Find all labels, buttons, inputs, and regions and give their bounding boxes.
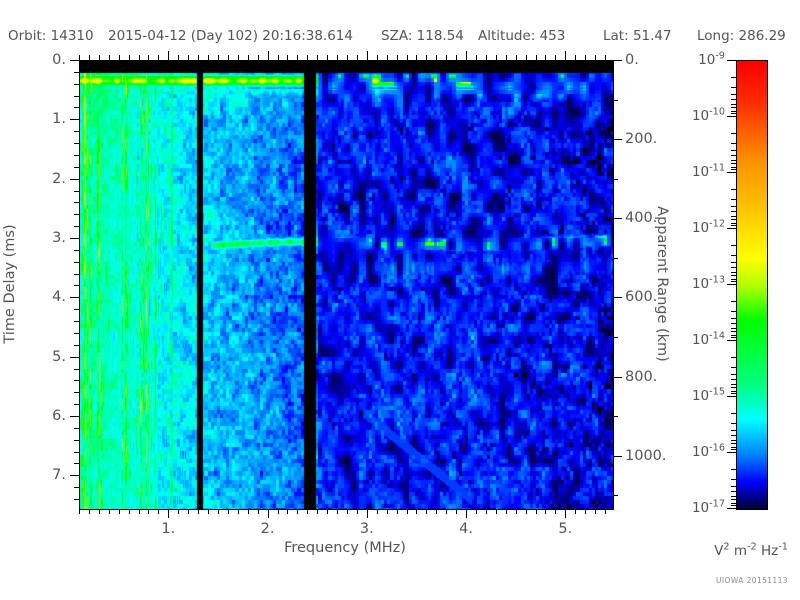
colorbar-minor-tick — [731, 491, 736, 492]
colorbar-minor-tick — [731, 163, 736, 164]
colorbar-tick-label: 10-17 — [692, 500, 725, 516]
header-field-label: Lat: — [603, 28, 633, 44]
y-left-minor-tick — [74, 392, 79, 393]
x-minor-tick-top — [218, 55, 219, 60]
header-field-value: 14310 — [51, 28, 94, 44]
x-minor-tick-top — [397, 55, 398, 60]
y-axis-right-tick-label: 0. — [625, 52, 639, 68]
x-minor-tick-top — [307, 55, 308, 60]
y-left-minor-tick — [74, 321, 79, 322]
x-minor-tick-top — [129, 55, 130, 60]
y-left-minor-tick — [74, 487, 79, 488]
x-minor-tick-top — [327, 55, 328, 60]
x-minor-tick — [278, 509, 279, 514]
colorbar-minor-tick — [731, 99, 736, 100]
colorbar-minor-tick — [731, 374, 736, 375]
colorbar-minor-tick — [731, 272, 736, 273]
y-axis-left-tick-label: 5. — [0, 349, 66, 365]
x-axis-tick-label: 4. — [459, 521, 473, 537]
x-minor-tick — [258, 509, 259, 514]
x-minor-tick-top — [79, 55, 80, 60]
colorbar-minor-tick — [731, 267, 736, 268]
x-major-tick-top — [168, 51, 169, 60]
x-minor-tick-top — [317, 55, 318, 60]
colorbar-tick-label: 10-15 — [692, 388, 725, 404]
x-minor-tick — [337, 509, 338, 514]
x-minor-tick — [139, 509, 140, 514]
x-axis-title: Frequency (MHz) — [284, 540, 406, 556]
y-left-minor-tick — [74, 333, 79, 334]
x-minor-tick-top — [228, 55, 229, 60]
y-left-minor-tick — [74, 499, 79, 500]
colorbar-minor-tick — [731, 379, 736, 380]
colorbar-minor-tick — [731, 357, 736, 358]
y-left-minor-tick — [74, 250, 79, 251]
y-left-minor-tick — [74, 167, 79, 168]
x-minor-tick — [307, 509, 308, 514]
y-left-minor-tick — [74, 369, 79, 370]
x-minor-tick-top — [188, 55, 189, 60]
x-minor-tick-top — [506, 55, 507, 60]
colorbar-minor-tick — [731, 143, 736, 144]
x-minor-tick — [198, 509, 199, 514]
y-left-minor-tick — [74, 463, 79, 464]
x-minor-tick — [89, 509, 90, 514]
header-field-0: Orbit: 14310 — [8, 28, 94, 44]
x-minor-tick-top — [89, 55, 90, 60]
colorbar-minor-tick — [731, 301, 736, 302]
colorbar-minor-tick — [731, 331, 736, 332]
colorbar-minor-tick — [731, 384, 736, 385]
x-minor-tick-top — [158, 55, 159, 60]
x-major-tick — [168, 509, 169, 518]
colorbar-minor-tick — [731, 391, 736, 392]
colorbar-minor-tick — [731, 335, 736, 336]
x-minor-tick-top — [337, 55, 338, 60]
y-left-minor-tick — [74, 96, 79, 97]
x-minor-tick-top — [446, 55, 447, 60]
x-minor-tick — [436, 509, 437, 514]
x-minor-tick-top — [148, 55, 149, 60]
x-minor-tick — [297, 509, 298, 514]
header-field-2: SZA: 118.54 — [381, 28, 464, 44]
y-left-major-tick — [70, 357, 79, 358]
colorbar-major-tick — [727, 228, 736, 229]
x-minor-tick — [317, 509, 318, 514]
x-minor-tick-top — [416, 55, 417, 60]
header-field-value: 118.54 — [417, 28, 464, 44]
y-left-minor-tick — [74, 262, 79, 263]
colorbar-major-tick — [727, 508, 736, 509]
spectrogram-image — [80, 61, 613, 509]
y-left-minor-tick — [74, 202, 79, 203]
colorbar-minor-tick — [731, 440, 736, 441]
colorbar-minor-tick — [731, 255, 736, 256]
colorbar-minor-tick — [731, 430, 736, 431]
x-minor-tick — [327, 509, 328, 514]
x-axis-tick-label: 2. — [261, 521, 275, 537]
colorbar-minor-tick — [731, 318, 736, 319]
y-axis-right-tick-label: 1000. — [625, 448, 667, 464]
colorbar-major-tick — [727, 172, 736, 173]
y-right-major-tick — [613, 456, 622, 457]
x-major-tick-top — [367, 51, 368, 60]
colorbar-minor-tick — [731, 167, 736, 168]
header-field-label: SZA: — [381, 28, 417, 44]
x-minor-tick — [357, 509, 358, 514]
y-left-minor-tick — [74, 84, 79, 85]
colorbar-minor-tick — [731, 206, 736, 207]
colorbar-minor-tick — [731, 486, 736, 487]
x-minor-tick — [526, 509, 527, 514]
x-minor-tick — [426, 509, 427, 514]
colorbar-major-tick — [727, 340, 736, 341]
colorbar-minor-tick — [731, 94, 736, 95]
x-major-tick-top — [268, 51, 269, 60]
colorbar-minor-tick — [731, 245, 736, 246]
x-minor-tick-top — [545, 55, 546, 60]
y-left-minor-tick — [74, 440, 79, 441]
x-minor-tick-top — [387, 55, 388, 60]
header-info-bar: Orbit: 143102015-04-12 (Day 102) 20:16:3… — [0, 28, 800, 48]
x-minor-tick — [148, 509, 149, 514]
colorbar-minor-tick — [731, 505, 736, 506]
colorbar-minor-tick — [731, 328, 736, 329]
colorbar-minor-tick — [731, 111, 736, 112]
colorbar-tick-label: 10-9 — [698, 52, 725, 68]
header-field-4: Lat: 51.47 — [603, 28, 672, 44]
x-minor-tick-top — [238, 55, 239, 60]
x-minor-tick — [228, 509, 229, 514]
x-minor-tick — [416, 509, 417, 514]
x-major-tick-top — [565, 51, 566, 60]
colorbar-minor-tick — [731, 496, 736, 497]
colorbar-minor-tick — [731, 499, 736, 500]
header-field-3: Altitude: 453 — [478, 28, 565, 44]
x-minor-tick — [555, 509, 556, 514]
colorbar-minor-tick — [731, 323, 736, 324]
colorbar-minor-tick — [731, 107, 736, 108]
y-axis-right-tick-label: 600. — [625, 289, 657, 305]
y-axis-left-tick-label: 2. — [0, 171, 66, 187]
x-major-tick — [565, 509, 566, 518]
colorbar-minor-tick — [731, 150, 736, 151]
y-left-minor-tick — [74, 285, 79, 286]
x-minor-tick-top — [555, 55, 556, 60]
y-left-major-tick — [70, 60, 79, 61]
y-axis-right-title: Apparent Range (km) — [654, 206, 670, 362]
y-left-minor-tick — [74, 345, 79, 346]
x-minor-tick-top — [178, 55, 179, 60]
colorbar-tick-label: 10-14 — [692, 332, 725, 348]
colorbar-minor-tick — [731, 367, 736, 368]
x-axis-tick-label: 1. — [161, 521, 175, 537]
colorbar-minor-tick — [731, 87, 736, 88]
y-left-minor-tick — [74, 191, 79, 192]
x-major-tick — [268, 509, 269, 518]
x-minor-tick — [585, 509, 586, 514]
colorbar-tick-label: 10-12 — [692, 220, 725, 236]
colorbar-minor-tick — [731, 393, 736, 394]
y-left-major-tick — [70, 416, 79, 417]
x-minor-tick — [387, 509, 388, 514]
y-right-minor-tick — [613, 416, 618, 417]
y-right-major-tick — [613, 377, 622, 378]
y-right-major-tick — [613, 218, 622, 219]
header-field-value: 2015-04-12 (Day 102) 20:16:38.614 — [108, 28, 353, 44]
spectrogram-plot-frame — [79, 60, 614, 510]
y-left-minor-tick — [74, 72, 79, 73]
y-right-minor-tick — [613, 179, 618, 180]
x-minor-tick-top — [426, 55, 427, 60]
header-field-label: Orbit: — [8, 28, 51, 44]
x-minor-tick-top — [208, 55, 209, 60]
colorbar-minor-tick — [731, 223, 736, 224]
y-left-minor-tick — [74, 155, 79, 156]
colorbar-minor-tick — [731, 447, 736, 448]
colorbar-major-tick — [727, 452, 736, 453]
x-minor-tick — [605, 509, 606, 514]
y-right-major-tick — [613, 139, 622, 140]
y-right-minor-tick — [613, 100, 618, 101]
x-minor-tick — [397, 509, 398, 514]
header-field-5: Long: 286.29 — [697, 28, 786, 44]
x-minor-tick-top — [377, 55, 378, 60]
colorbar-minor-tick — [731, 77, 736, 78]
y-axis-left-title: Time Delay (ms) — [2, 224, 18, 343]
x-minor-tick-top — [486, 55, 487, 60]
x-minor-tick-top — [278, 55, 279, 60]
x-minor-tick — [99, 509, 100, 514]
x-minor-tick-top — [526, 55, 527, 60]
x-minor-tick-top — [357, 55, 358, 60]
colorbar-minor-tick — [731, 413, 736, 414]
watermark-label: UIOWA 20151113 — [716, 576, 788, 585]
colorbar-minor-tick — [731, 104, 736, 105]
y-left-major-tick — [70, 179, 79, 180]
colorbar-major-tick — [727, 116, 736, 117]
colorbar-minor-tick — [731, 225, 736, 226]
x-minor-tick — [516, 509, 517, 514]
y-axis-left-tick-label: 0. — [0, 52, 66, 68]
x-minor-tick — [188, 509, 189, 514]
colorbar-minor-tick — [731, 435, 736, 436]
x-minor-tick-top — [407, 55, 408, 60]
colorbar-minor-tick — [731, 155, 736, 156]
colorbar-minor-tick — [731, 503, 736, 504]
x-minor-tick-top — [109, 55, 110, 60]
x-minor-tick-top — [198, 55, 199, 60]
y-left-minor-tick — [74, 309, 79, 310]
y-right-minor-tick — [613, 258, 618, 259]
colorbar-tick-label: 10-11 — [692, 164, 725, 180]
x-minor-tick-top — [248, 55, 249, 60]
colorbar-major-tick — [727, 284, 736, 285]
colorbar-tick-label: 10-10 — [692, 108, 725, 124]
colorbar-tick-label: 10-16 — [692, 444, 725, 460]
y-left-major-tick — [70, 238, 79, 239]
x-minor-tick-top — [456, 55, 457, 60]
x-minor-tick-top — [516, 55, 517, 60]
header-field-value: 453 — [540, 28, 566, 44]
x-minor-tick-top — [436, 55, 437, 60]
y-right-minor-tick — [613, 337, 618, 338]
y-left-minor-tick — [74, 143, 79, 144]
x-minor-tick-top — [585, 55, 586, 60]
colorbar-minor-tick — [731, 216, 736, 217]
y-left-minor-tick — [74, 404, 79, 405]
colorbar-minor-tick — [731, 160, 736, 161]
x-minor-tick — [218, 509, 219, 514]
y-left-minor-tick — [74, 107, 79, 108]
x-minor-tick-top — [347, 55, 348, 60]
x-major-tick — [367, 509, 368, 518]
colorbar-minor-tick — [731, 219, 736, 220]
x-minor-tick — [178, 509, 179, 514]
colorbar-minor-tick — [731, 279, 736, 280]
header-field-label: Altitude: — [478, 28, 540, 44]
x-axis-tick-label: 3. — [360, 521, 374, 537]
x-minor-tick — [347, 509, 348, 514]
y-left-minor-tick — [74, 274, 79, 275]
x-minor-tick-top — [605, 55, 606, 60]
x-minor-tick — [456, 509, 457, 514]
x-minor-tick-top — [476, 55, 477, 60]
x-axis-tick-label: 5. — [558, 521, 572, 537]
colorbar-minor-tick — [731, 199, 736, 200]
x-minor-tick — [536, 509, 537, 514]
x-minor-tick-top — [496, 55, 497, 60]
colorbar-minor-tick — [731, 189, 736, 190]
x-minor-tick — [109, 509, 110, 514]
colorbar-minor-tick — [731, 337, 736, 338]
x-minor-tick-top — [258, 55, 259, 60]
header-field-1: 2015-04-12 (Day 102) 20:16:38.614 — [108, 28, 353, 44]
colorbar-tick-label: 10-13 — [692, 276, 725, 292]
x-minor-tick — [486, 509, 487, 514]
colorbar-major-tick — [727, 60, 736, 61]
y-axis-right-tick-label: 200. — [625, 131, 657, 147]
colorbar-minor-tick — [731, 275, 736, 276]
x-minor-tick-top — [297, 55, 298, 60]
x-minor-tick — [496, 509, 497, 514]
y-left-minor-tick — [74, 428, 79, 429]
y-right-major-tick — [613, 60, 622, 61]
x-minor-tick — [407, 509, 408, 514]
y-left-minor-tick — [74, 380, 79, 381]
x-minor-tick — [287, 509, 288, 514]
header-field-label: Long: — [697, 28, 739, 44]
header-field-value: 51.47 — [633, 28, 672, 44]
x-major-tick — [466, 509, 467, 518]
colorbar-minor-tick — [731, 423, 736, 424]
x-minor-tick-top — [99, 55, 100, 60]
x-minor-tick — [119, 509, 120, 514]
colorbar-minor-tick — [731, 387, 736, 388]
x-minor-tick — [595, 509, 596, 514]
y-left-minor-tick — [74, 214, 79, 215]
colorbar-major-tick — [727, 396, 736, 397]
y-axis-left-tick-label: 7. — [0, 467, 66, 483]
x-minor-tick — [129, 509, 130, 514]
y-axis-left-tick-label: 6. — [0, 408, 66, 424]
header-field-value: 286.29 — [739, 28, 786, 44]
colorbar-minor-tick — [731, 113, 736, 114]
x-minor-tick-top — [595, 55, 596, 60]
y-left-major-tick — [70, 297, 79, 298]
x-minor-tick-top — [536, 55, 537, 60]
y-left-major-tick — [70, 119, 79, 120]
x-minor-tick — [377, 509, 378, 514]
y-left-major-tick — [70, 475, 79, 476]
x-major-tick-top — [466, 51, 467, 60]
y-axis-right-tick-label: 800. — [625, 369, 657, 385]
x-minor-tick-top — [119, 55, 120, 60]
x-minor-tick-top — [287, 55, 288, 60]
colorbar-minor-tick — [731, 449, 736, 450]
y-left-minor-tick — [74, 226, 79, 227]
x-minor-tick — [208, 509, 209, 514]
colorbar — [736, 60, 768, 510]
x-minor-tick-top — [575, 55, 576, 60]
y-axis-right-tick-label: 400. — [625, 210, 657, 226]
colorbar-minor-tick — [731, 262, 736, 263]
colorbar-unit-label: V2 m-2 Hz-1 — [714, 543, 788, 559]
y-right-major-tick — [613, 297, 622, 298]
y-left-minor-tick — [74, 452, 79, 453]
x-minor-tick — [158, 509, 159, 514]
x-minor-tick — [248, 509, 249, 514]
colorbar-minor-tick — [731, 133, 736, 134]
colorbar-minor-tick — [731, 443, 736, 444]
colorbar-minor-tick — [731, 211, 736, 212]
x-minor-tick — [79, 509, 80, 514]
x-minor-tick — [506, 509, 507, 514]
x-minor-tick-top — [139, 55, 140, 60]
colorbar-minor-tick — [731, 169, 736, 170]
x-minor-tick — [446, 509, 447, 514]
colorbar-minor-tick — [731, 469, 736, 470]
y-axis-left-tick-label: 1. — [0, 111, 66, 127]
colorbar-minor-tick — [731, 479, 736, 480]
x-minor-tick — [545, 509, 546, 514]
y-right-minor-tick — [613, 495, 618, 496]
colorbar-minor-tick — [731, 281, 736, 282]
y-left-minor-tick — [74, 131, 79, 132]
colorbar-minor-tick — [731, 311, 736, 312]
x-minor-tick — [575, 509, 576, 514]
x-minor-tick — [476, 509, 477, 514]
x-minor-tick — [238, 509, 239, 514]
